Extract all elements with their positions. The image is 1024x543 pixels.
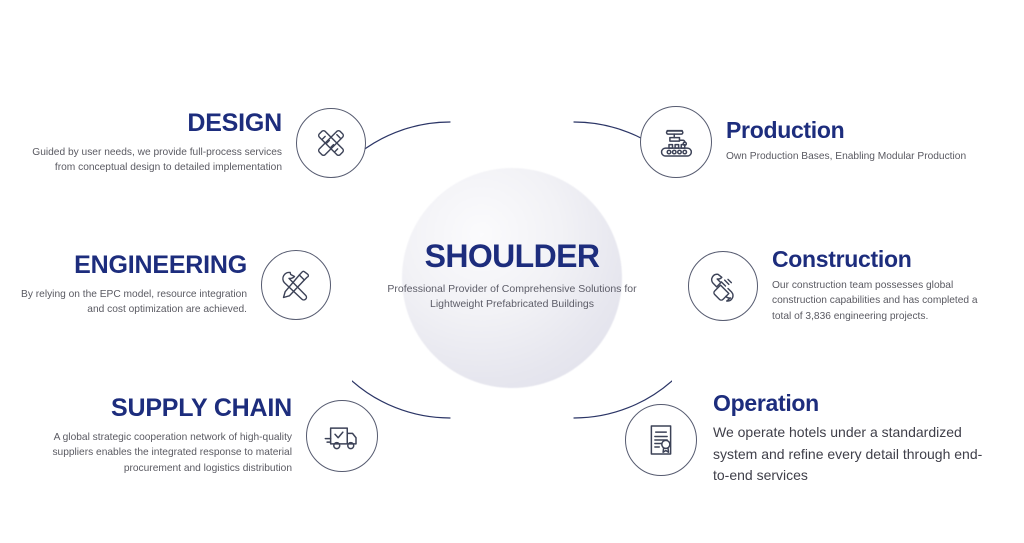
hand-wrench-icon[interactable] [688, 251, 758, 321]
item-design[interactable]: DESIGN Guided by user needs, we provide … [18, 108, 366, 178]
item-engineering[interactable]: ENGINEERING By relying on the EPC model,… [4, 250, 331, 320]
certificate-icon[interactable] [625, 404, 697, 476]
brand-title: SHOULDER [382, 240, 642, 272]
item-construction[interactable]: Construction Our construction team posse… [688, 248, 1018, 324]
item-construction-heading: Construction [772, 248, 994, 271]
item-construction-body: Our construction team possesses global c… [772, 278, 994, 324]
infographic-canvas: SHOULDER Professional Provider of Compre… [0, 0, 1024, 543]
item-engineering-body: By relying on the EPC model, resource in… [7, 287, 247, 318]
pencil-ruler-icon[interactable] [296, 108, 366, 178]
conveyor-belt-glyph [655, 121, 697, 163]
item-production-heading: Production [726, 119, 986, 142]
item-supply-chain-heading: SUPPLY CHAIN [44, 396, 292, 421]
brand-subtitle: Professional Provider of Comprehensive S… [382, 282, 642, 312]
item-operation[interactable]: Operation We operate hotels under a stan… [625, 392, 1005, 487]
item-production-text: Production Own Production Bases, Enablin… [726, 119, 986, 164]
item-production-body: Own Production Bases, Enabling Modular P… [726, 149, 986, 164]
item-supply-chain-text: SUPPLY CHAIN A global strategic cooperat… [44, 396, 292, 476]
item-design-heading: DESIGN [32, 111, 282, 136]
item-production[interactable]: Production Own Production Bases, Enablin… [640, 106, 1000, 178]
delivery-truck-glyph [321, 415, 363, 457]
wrench-screwdriver-glyph [276, 265, 316, 305]
delivery-truck-icon[interactable] [306, 400, 378, 472]
item-construction-text: Construction Our construction team posse… [772, 248, 994, 324]
item-operation-heading: Operation [713, 392, 983, 415]
conveyor-belt-icon[interactable] [640, 106, 712, 178]
item-engineering-heading: ENGINEERING [7, 253, 247, 278]
hand-wrench-glyph [703, 266, 743, 306]
item-operation-body: We operate hotels under a standardized s… [713, 422, 983, 487]
certificate-glyph [640, 419, 682, 461]
item-engineering-text: ENGINEERING By relying on the EPC model,… [7, 253, 247, 318]
item-supply-chain-body: A global strategic cooperation network o… [44, 430, 292, 476]
wrench-screwdriver-icon[interactable] [261, 250, 331, 320]
center-cluster: SHOULDER Professional Provider of Compre… [352, 100, 672, 440]
item-operation-text: Operation We operate hotels under a stan… [713, 392, 983, 487]
item-design-text: DESIGN Guided by user needs, we provide … [32, 111, 282, 176]
center-text-block: SHOULDER Professional Provider of Compre… [382, 240, 642, 312]
item-supply-chain[interactable]: SUPPLY CHAIN A global strategic cooperat… [34, 396, 378, 476]
item-design-body: Guided by user needs, we provide full-pr… [32, 145, 282, 176]
pencil-ruler-glyph [311, 123, 351, 163]
